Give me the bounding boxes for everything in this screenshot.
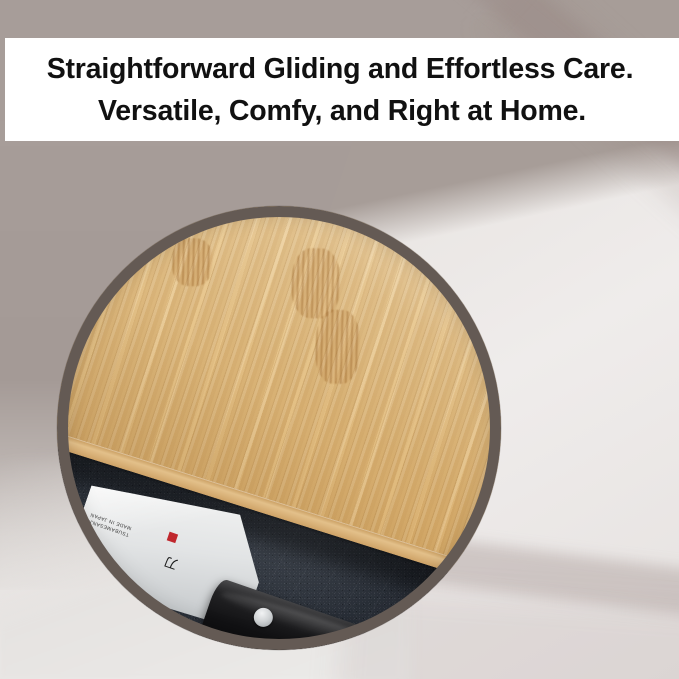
circular-product-photo: TSUBAMESANJO MADE IN JAPAN 刀 — [57, 206, 501, 650]
headline-banner: Straightforward Gliding and Effortless C… — [5, 38, 679, 141]
circle-contents: TSUBAMESANJO MADE IN JAPAN 刀 — [57, 206, 501, 650]
headline-line-2: Versatile, Comfy, and Right at Home. — [98, 90, 586, 132]
logo-red-square-icon — [167, 532, 178, 543]
logo-kanji-glyph: 刀 — [164, 554, 180, 570]
product-banner-image: TSUBAMESANJO MADE IN JAPAN 刀 Straightfor… — [0, 0, 679, 679]
headline-line-1: Straightforward Gliding and Effortless C… — [47, 48, 638, 90]
